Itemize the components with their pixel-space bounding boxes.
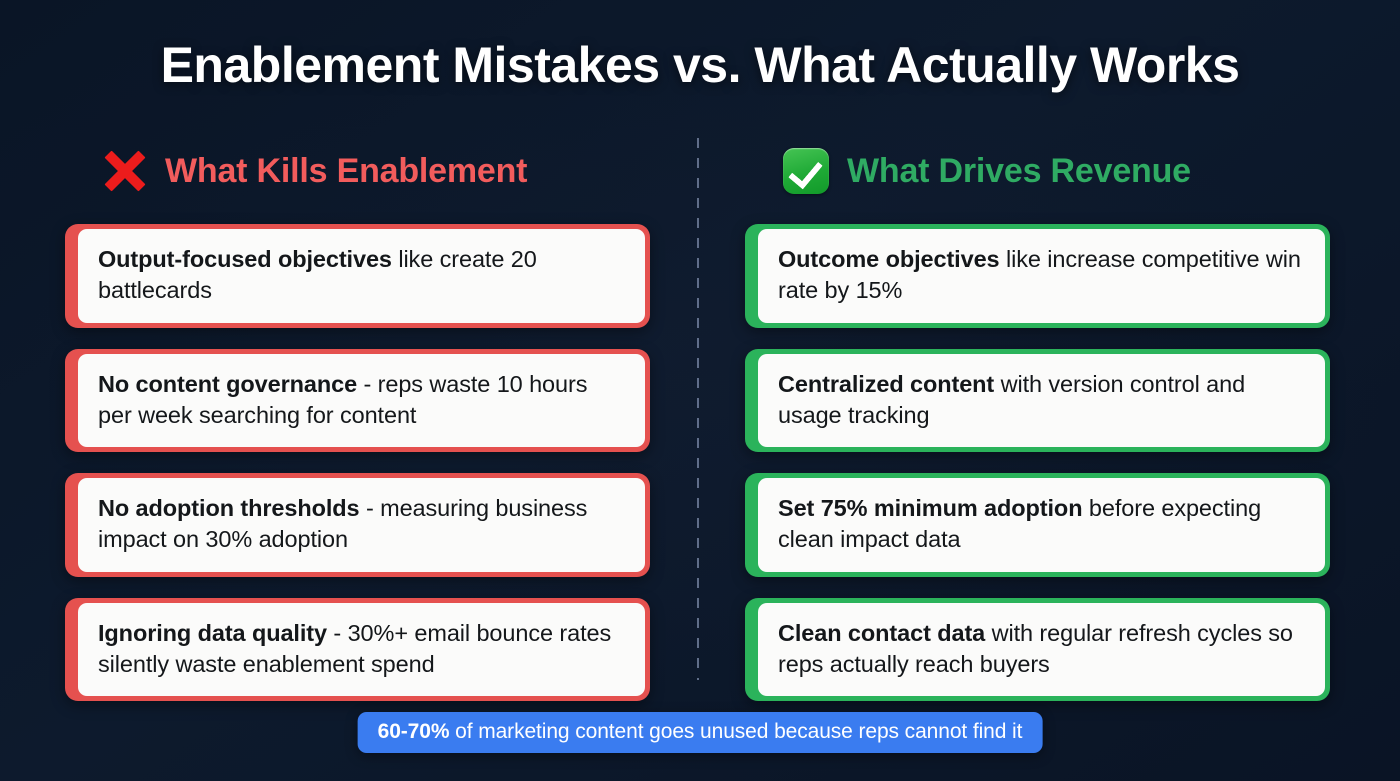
footer-stat-banner: 60-70% of marketing content goes unused … — [358, 712, 1043, 753]
card-text: Ignoring data quality - 30%+ email bounc… — [98, 618, 625, 681]
card-text: Outcome objectives like increase competi… — [778, 244, 1305, 307]
card-text: No content governance - reps waste 10 ho… — [98, 369, 625, 432]
column-kills-enablement: What Kills Enablement Output-focused obj… — [65, 138, 665, 722]
card-body: Output-focused objectives like create 20… — [78, 229, 645, 323]
page-title: Enablement Mistakes vs. What Actually Wo… — [0, 36, 1400, 94]
card-text: Set 75% minimum adoption before expectin… — [778, 493, 1305, 556]
card-lead: Centralized content — [778, 371, 994, 397]
list-item: Clean contact data with regular refresh … — [745, 598, 1330, 702]
column-divider — [697, 138, 699, 680]
column-header-left-label: What Kills Enablement — [165, 152, 527, 191]
list-item: Set 75% minimum adoption before expectin… — [745, 473, 1330, 577]
card-lead: No content governance — [98, 371, 357, 397]
card-text: No adoption thresholds - measuring busin… — [98, 493, 625, 556]
footer-highlight: 60-70% — [378, 720, 450, 743]
card-body: Centralized content with version control… — [758, 354, 1325, 448]
infographic-page: Enablement Mistakes vs. What Actually Wo… — [0, 0, 1400, 781]
list-item: Ignoring data quality - 30%+ email bounc… — [65, 598, 650, 702]
list-item: No adoption thresholds - measuring busin… — [65, 473, 650, 577]
column-header-right: What Drives Revenue — [745, 138, 1345, 204]
card-text: Output-focused objectives like create 20… — [98, 244, 625, 307]
footer-text: of marketing content goes unused because… — [449, 720, 1022, 743]
list-item: Centralized content with version control… — [745, 349, 1330, 453]
green-check-mark-icon — [783, 148, 829, 194]
column-header-left: What Kills Enablement — [65, 138, 665, 204]
card-body: No content governance - reps waste 10 ho… — [78, 354, 645, 448]
red-x-mark-icon — [103, 149, 147, 193]
list-item: Output-focused objectives like create 20… — [65, 224, 650, 328]
card-text: Clean contact data with regular refresh … — [778, 618, 1305, 681]
card-lead: No adoption thresholds — [98, 495, 360, 521]
card-lead: Outcome objectives — [778, 246, 1000, 272]
card-lead: Clean contact data — [778, 620, 985, 646]
card-body: Set 75% minimum adoption before expectin… — [758, 478, 1325, 572]
column-drives-revenue: What Drives Revenue Outcome objectives l… — [745, 138, 1345, 722]
list-item: No content governance - reps waste 10 ho… — [65, 349, 650, 453]
card-body: Ignoring data quality - 30%+ email bounc… — [78, 603, 645, 697]
card-body: Outcome objectives like increase competi… — [758, 229, 1325, 323]
card-text: Centralized content with version control… — [778, 369, 1305, 432]
card-body: Clean contact data with regular refresh … — [758, 603, 1325, 697]
card-lead: Ignoring data quality — [98, 620, 327, 646]
card-lead: Output-focused objectives — [98, 246, 392, 272]
list-item: Outcome objectives like increase competi… — [745, 224, 1330, 328]
card-body: No adoption thresholds - measuring busin… — [78, 478, 645, 572]
column-header-right-label: What Drives Revenue — [847, 152, 1191, 191]
card-lead: Set 75% minimum adoption — [778, 495, 1082, 521]
